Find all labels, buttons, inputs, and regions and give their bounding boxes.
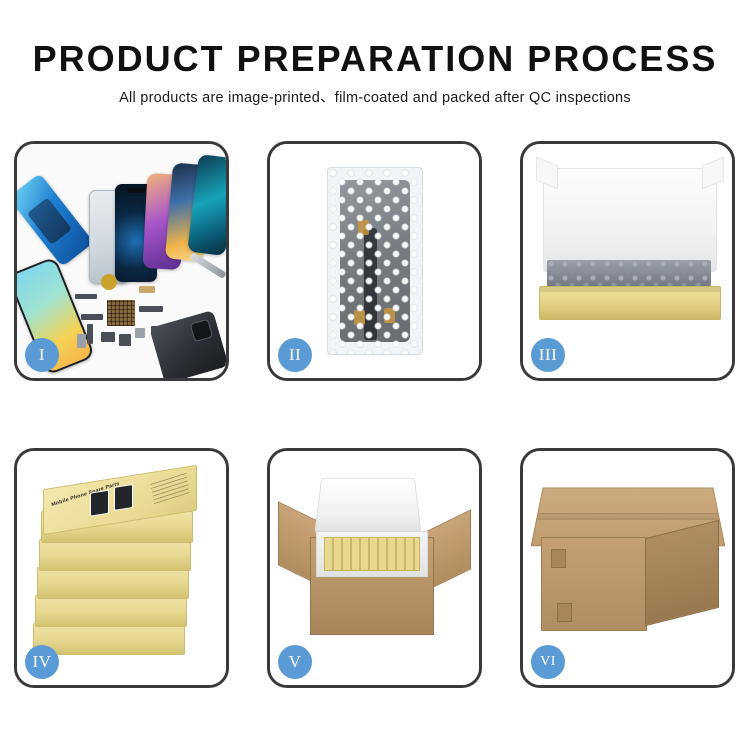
process-step-panel-5: V xyxy=(267,448,482,688)
box-stack-group: Mobile Phone Spare Parts xyxy=(31,473,215,659)
product-preparation-process-page: PRODUCT PREPARATION PROCESS All products… xyxy=(0,0,750,750)
white-foam-lid-icon xyxy=(543,168,717,272)
speaker-box-icon xyxy=(119,334,131,346)
connector-gold-icon xyxy=(139,286,155,293)
bubble-wrap-bag-icon xyxy=(327,167,423,355)
process-step-panel-4: Mobile Phone Spare Parts IV xyxy=(14,448,229,688)
stacked-box-bottom xyxy=(33,623,185,655)
yellow-boxes-inside-icon xyxy=(324,537,420,571)
box-spec-lines-icon xyxy=(151,472,190,504)
carton-tape-lower-icon xyxy=(557,603,572,622)
battery-tab-icon xyxy=(77,334,86,348)
step-badge-1: I xyxy=(25,338,59,372)
yellow-tray-base-icon xyxy=(539,286,721,320)
stacked-box-3 xyxy=(39,539,191,571)
bubble-texture-icon xyxy=(328,168,422,354)
box-artwork-phone-1-icon xyxy=(90,490,109,517)
speaker-coil-icon xyxy=(101,274,117,290)
step-badge-4: IV xyxy=(25,645,59,679)
antenna-strip-icon xyxy=(75,294,97,299)
stacked-box-5 xyxy=(35,595,187,627)
stacked-box-4 xyxy=(37,567,189,599)
box-artwork-phone-2-icon xyxy=(114,484,133,511)
process-step-panel-6: VI xyxy=(520,448,735,688)
step-badge-6: VI xyxy=(531,645,565,679)
process-step-panel-1: I xyxy=(14,141,229,381)
box-label-text: Mobile Phone Spare Parts xyxy=(51,481,120,508)
bracket-icon xyxy=(81,314,103,320)
phone-display-blue-icon xyxy=(17,173,94,267)
carton-tape-upper-icon xyxy=(551,549,566,568)
step-badge-3: III xyxy=(531,338,565,372)
carton-side-face-icon xyxy=(645,520,719,626)
step-badge-5: V xyxy=(278,645,312,679)
flex-cable-icon xyxy=(139,306,163,312)
screw-set-icon xyxy=(135,328,145,338)
camera-module-icon xyxy=(101,332,115,342)
chip-array-icon xyxy=(107,300,135,326)
process-step-panel-3: III xyxy=(520,141,735,381)
process-step-panel-2: II xyxy=(267,141,482,381)
foam-lid-open-icon xyxy=(314,478,421,534)
page-subtitle: All products are image-printed、film-coat… xyxy=(0,89,750,107)
process-step-grid: I II III xyxy=(14,141,736,703)
page-title: PRODUCT PREPARATION PROCESS xyxy=(0,38,750,80)
step-badge-2: II xyxy=(278,338,312,372)
header: PRODUCT PREPARATION PROCESS All products… xyxy=(0,38,750,107)
side-bracket-icon xyxy=(87,324,93,344)
